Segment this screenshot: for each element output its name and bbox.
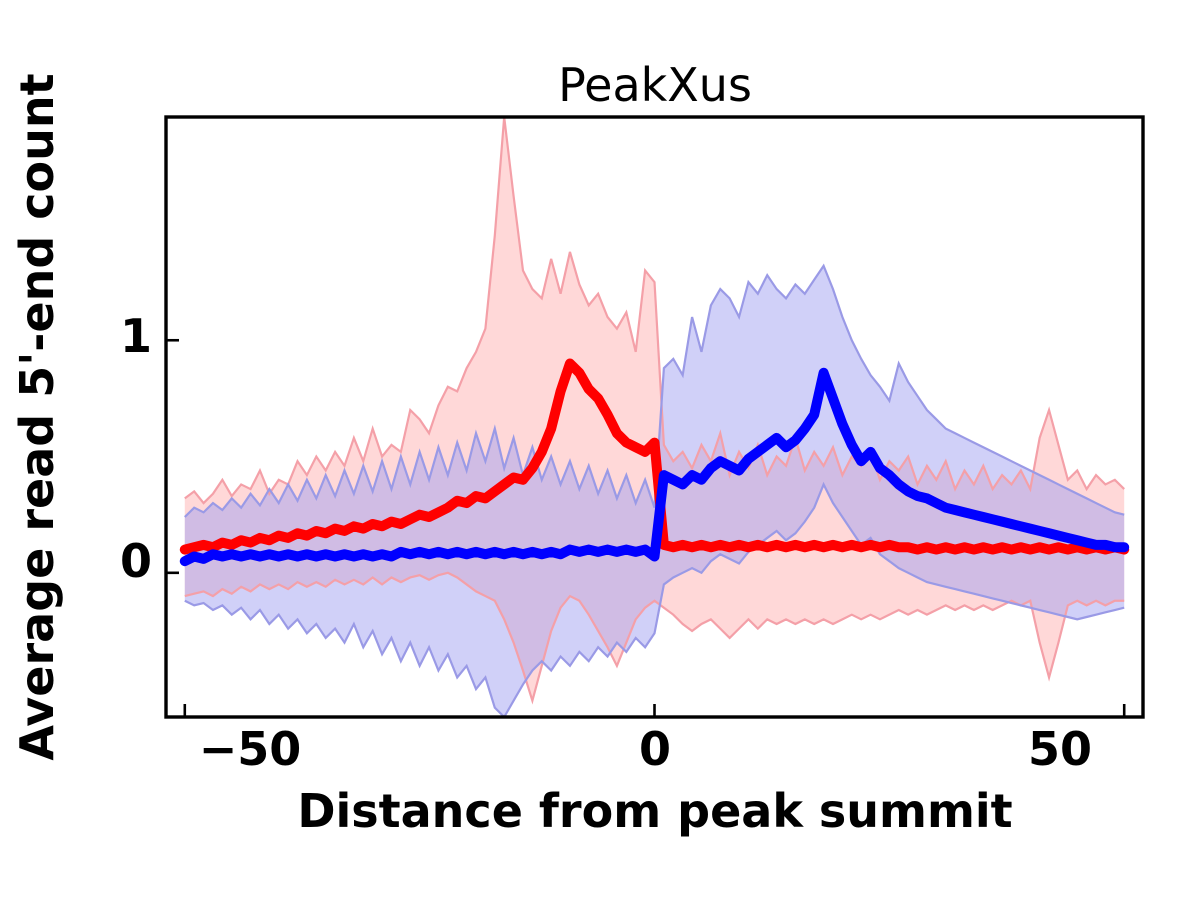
- ytick-label-zero: 0: [120, 534, 152, 588]
- chart-title: PeakXus: [558, 58, 752, 112]
- xtick-label-zero: 0: [639, 722, 671, 776]
- xtick-label-minus50: −50: [199, 722, 302, 776]
- x-axis-label: Distance from peak summit: [297, 784, 1012, 838]
- y-axis-label: Average read 5'-end count: [10, 73, 64, 760]
- xtick-label-50: 50: [1028, 722, 1092, 776]
- chart-plot: −50 0 50 0 1 PeakXus Distance from peak …: [0, 0, 1200, 900]
- ytick-label-one: 1: [120, 309, 152, 363]
- figure-canvas: −50 0 50 0 1 PeakXus Distance from peak …: [0, 0, 1200, 900]
